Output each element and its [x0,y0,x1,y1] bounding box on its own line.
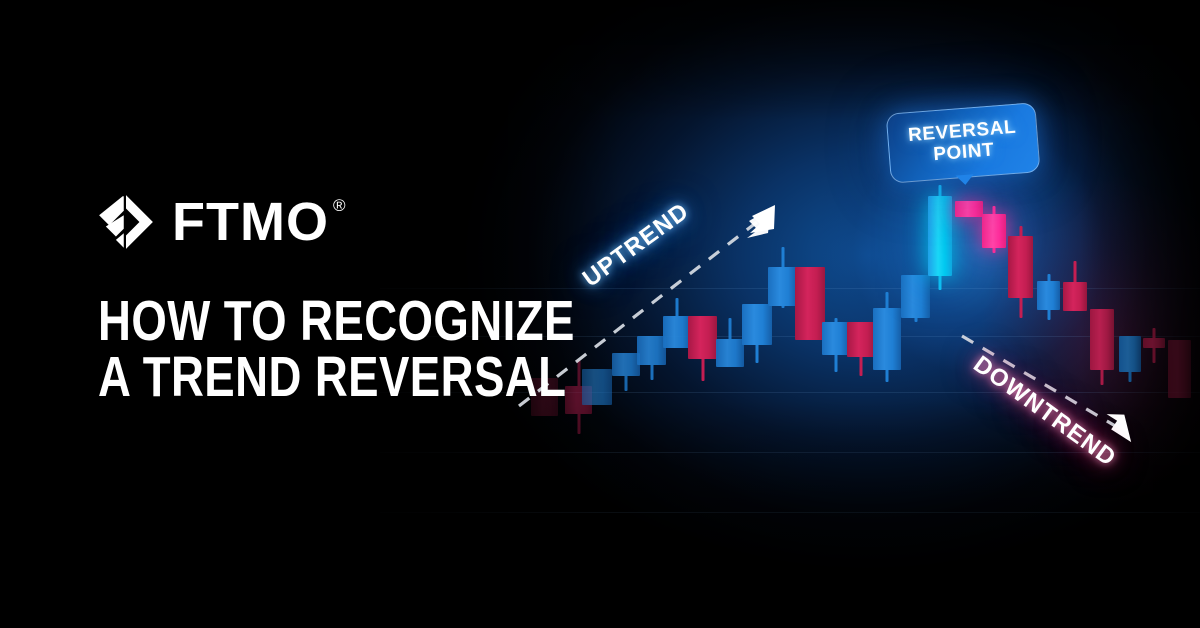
reversal-point-tooltip[interactable]: REVERSAL POINT [886,102,1039,181]
brand-logo[interactable]: FTMO ® [98,190,528,254]
ftmo-diamond-logo-icon [98,194,154,250]
page-title: HOW TO RECOGNIZE A TREND REVERSAL [98,294,442,406]
brand-wordmark: FTMO [172,195,329,249]
page-title-line-1: HOW TO RECOGNIZE [98,294,442,350]
page-title-line-2: A TREND REVERSAL [98,350,442,406]
tooltip-line-2: POINT [933,141,995,166]
registered-trademark-icon: ® [333,197,346,214]
tooltip-pointer-icon [956,174,975,185]
tooltip-box: REVERSAL POINT [886,102,1041,184]
promo-banner: REVERSAL POINT UPTREND DOWNTREND FTMO ® … [0,0,1200,628]
hero-text-block: FTMO ® HOW TO RECOGNIZE A TREND REVERSAL [98,190,528,406]
